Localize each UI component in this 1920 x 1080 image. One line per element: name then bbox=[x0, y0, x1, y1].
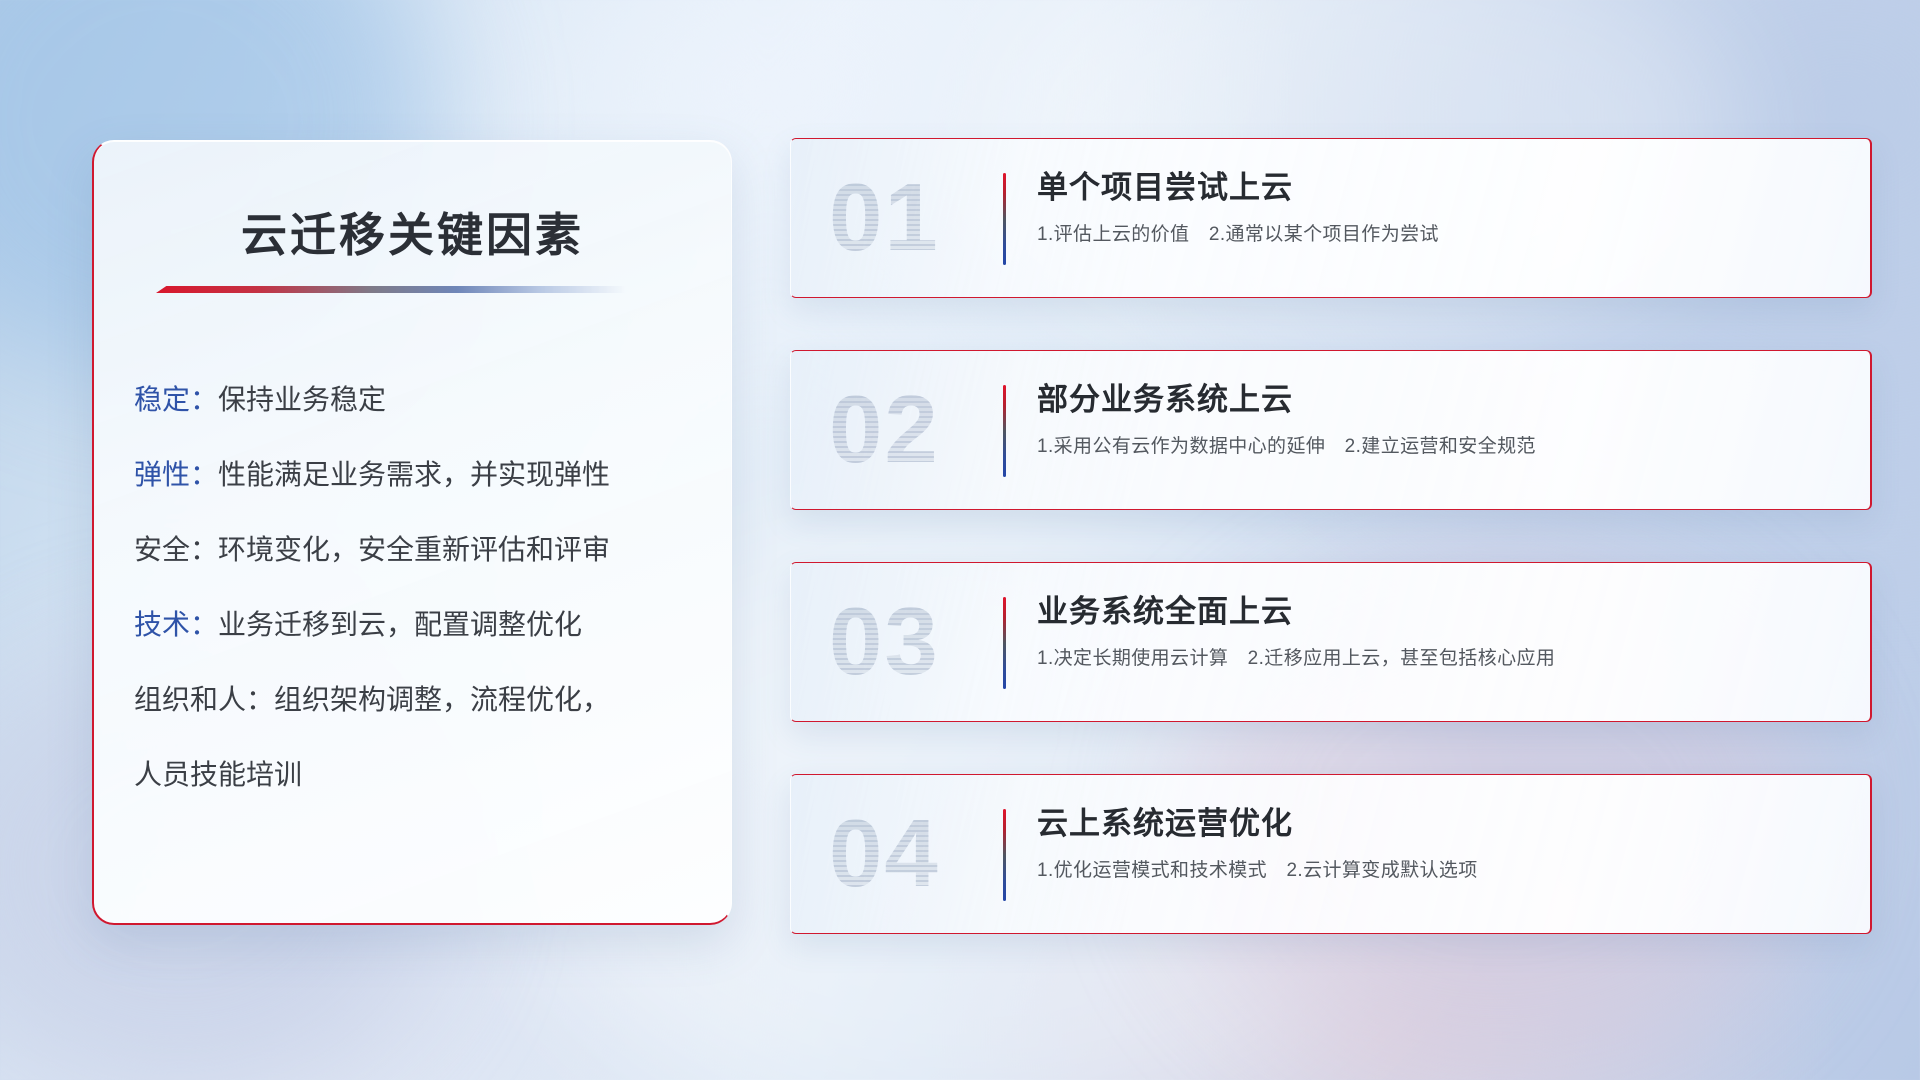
key-factor-value: 性能满足业务需求，并实现弹性 bbox=[218, 459, 610, 490]
key-factor-value: 业务迁移到云，配置调整优化 bbox=[218, 609, 582, 640]
step-subtitle: 1.采用公有云作为数据中心的延伸 2.建立运营和安全规范 bbox=[1037, 434, 1830, 461]
migration-step-card[interactable]: 01单个项目尝试上云1.评估上云的价值 2.通常以某个项目作为尝试 bbox=[790, 138, 1872, 298]
key-factor-item: 组织和人：组织架构调整，流程优化， bbox=[134, 686, 703, 714]
migration-step-card[interactable]: 03业务系统全面上云1.决定长期使用云计算 2.迁移应用上云，甚至包括核心应用 bbox=[790, 562, 1872, 722]
key-factor-item: 稳定：保持业务稳定 bbox=[134, 386, 703, 414]
step-number: 04 bbox=[829, 806, 940, 902]
key-factor-item: 弹性：性能满足业务需求，并实现弹性 bbox=[134, 461, 703, 489]
key-factor-label: 安全： bbox=[134, 534, 218, 565]
step-number: 03 bbox=[829, 594, 940, 690]
key-factors-card: 云迁移关键因素 稳定：保持业务稳定弹性：性能满足业务需求，并实现弹性安全：环境变… bbox=[92, 140, 732, 925]
page-title: 云迁移关键因素 bbox=[94, 199, 731, 265]
migration-step-card[interactable]: 02部分业务系统上云1.采用公有云作为数据中心的延伸 2.建立运营和安全规范 bbox=[790, 350, 1872, 510]
step-body: 单个项目尝试上云1.评估上云的价值 2.通常以某个项目作为尝试 bbox=[1037, 169, 1830, 249]
key-factor-item: 人员技能培训 bbox=[134, 761, 703, 789]
step-subtitle: 1.决定长期使用云计算 2.迁移应用上云，甚至包括核心应用 bbox=[1037, 646, 1830, 673]
step-title: 云上系统运营优化 bbox=[1037, 805, 1830, 842]
step-title: 业务系统全面上云 bbox=[1037, 593, 1830, 630]
step-body: 云上系统运营优化1.优化运营模式和技术模式 2.云计算变成默认选项 bbox=[1037, 805, 1830, 885]
migration-step-card[interactable]: 04云上系统运营优化1.优化运营模式和技术模式 2.云计算变成默认选项 bbox=[790, 774, 1872, 934]
key-factor-value: 人员技能培训 bbox=[134, 759, 302, 790]
step-body: 业务系统全面上云1.决定长期使用云计算 2.迁移应用上云，甚至包括核心应用 bbox=[1037, 593, 1830, 673]
key-factor-label: 技术： bbox=[134, 609, 218, 640]
step-number: 01 bbox=[829, 170, 940, 266]
key-factor-item: 技术：业务迁移到云，配置调整优化 bbox=[134, 611, 703, 639]
step-subtitle: 1.评估上云的价值 2.通常以某个项目作为尝试 bbox=[1037, 222, 1830, 249]
slide-canvas: 云迁移关键因素 稳定：保持业务稳定弹性：性能满足业务需求，并实现弹性安全：环境变… bbox=[0, 0, 1920, 1080]
key-factor-value: 环境变化，安全重新评估和评审 bbox=[218, 534, 610, 565]
key-factor-item: 安全：环境变化，安全重新评估和评审 bbox=[134, 536, 703, 564]
key-factor-label: 组织和人： bbox=[134, 684, 274, 715]
migration-steps-list: 01单个项目尝试上云1.评估上云的价值 2.通常以某个项目作为尝试02部分业务系… bbox=[790, 138, 1872, 986]
key-factors-list: 稳定：保持业务稳定弹性：性能满足业务需求，并实现弹性安全：环境变化，安全重新评估… bbox=[134, 386, 703, 789]
key-factor-label: 稳定： bbox=[134, 384, 218, 415]
step-divider-rule bbox=[1003, 385, 1006, 477]
step-divider-rule bbox=[1003, 597, 1006, 689]
step-divider-rule bbox=[1003, 173, 1006, 265]
step-number: 02 bbox=[829, 382, 940, 478]
step-title: 部分业务系统上云 bbox=[1037, 381, 1830, 418]
step-subtitle: 1.优化运营模式和技术模式 2.云计算变成默认选项 bbox=[1037, 858, 1830, 885]
step-body: 部分业务系统上云1.采用公有云作为数据中心的延伸 2.建立运营和安全规范 bbox=[1037, 381, 1830, 461]
key-factor-value: 保持业务稳定 bbox=[218, 384, 386, 415]
title-underline-rule bbox=[156, 286, 626, 293]
key-factor-value: 组织架构调整，流程优化， bbox=[274, 684, 610, 715]
key-factor-label: 弹性： bbox=[134, 459, 218, 490]
step-title: 单个项目尝试上云 bbox=[1037, 169, 1830, 206]
step-divider-rule bbox=[1003, 809, 1006, 901]
